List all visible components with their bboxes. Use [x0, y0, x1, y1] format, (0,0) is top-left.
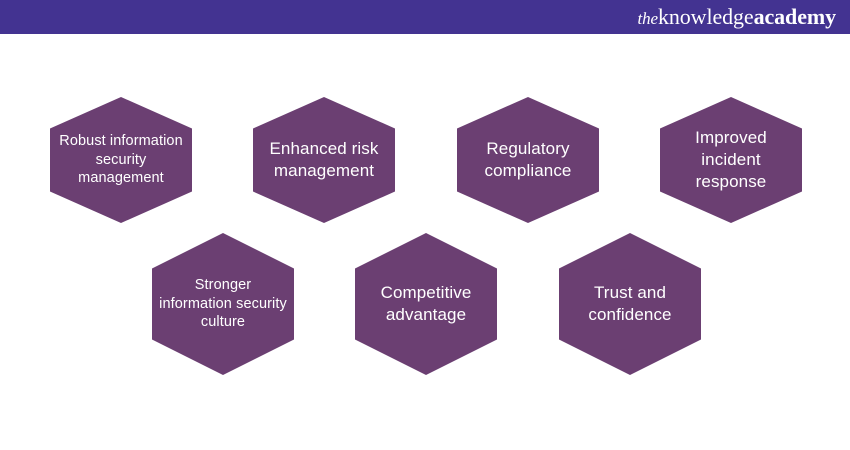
hexagon-robust-information-security-management: Robust information security management — [50, 97, 192, 223]
hexagon-diagram: Robust information security managementEn… — [0, 34, 850, 450]
infographic-root: theknowledgeacademy Robust information s… — [0, 0, 850, 450]
hexagon-trust-and-confidence: Trust and confidence — [559, 233, 701, 375]
hexagon-enhanced-risk-management: Enhanced risk management — [253, 97, 395, 223]
brand-logo-academy: academy — [754, 4, 836, 29]
hexagon-label: Regulatory compliance — [457, 138, 599, 182]
hexagon-label: Trust and confidence — [559, 282, 701, 326]
hexagon-label: Enhanced risk management — [253, 138, 395, 182]
hexagon-stronger-information-security-culture: Stronger information security culture — [152, 233, 294, 375]
hexagon-label: Robust information security management — [50, 132, 192, 188]
hexagon-improved-incident-response: Improved incident response — [660, 97, 802, 223]
hexagon-label: Improved incident response — [660, 127, 802, 192]
brand-logo-the: the — [637, 9, 657, 28]
hexagon-label: Stronger information security culture — [152, 276, 294, 332]
hexagon-competitive-advantage: Competitive advantage — [355, 233, 497, 375]
brand-logo-knowledge: knowledge — [658, 4, 754, 29]
header-bar: theknowledgeacademy — [0, 0, 850, 34]
hexagon-label: Competitive advantage — [355, 282, 497, 326]
brand-logo: theknowledgeacademy — [637, 6, 836, 28]
hexagon-regulatory-compliance: Regulatory compliance — [457, 97, 599, 223]
